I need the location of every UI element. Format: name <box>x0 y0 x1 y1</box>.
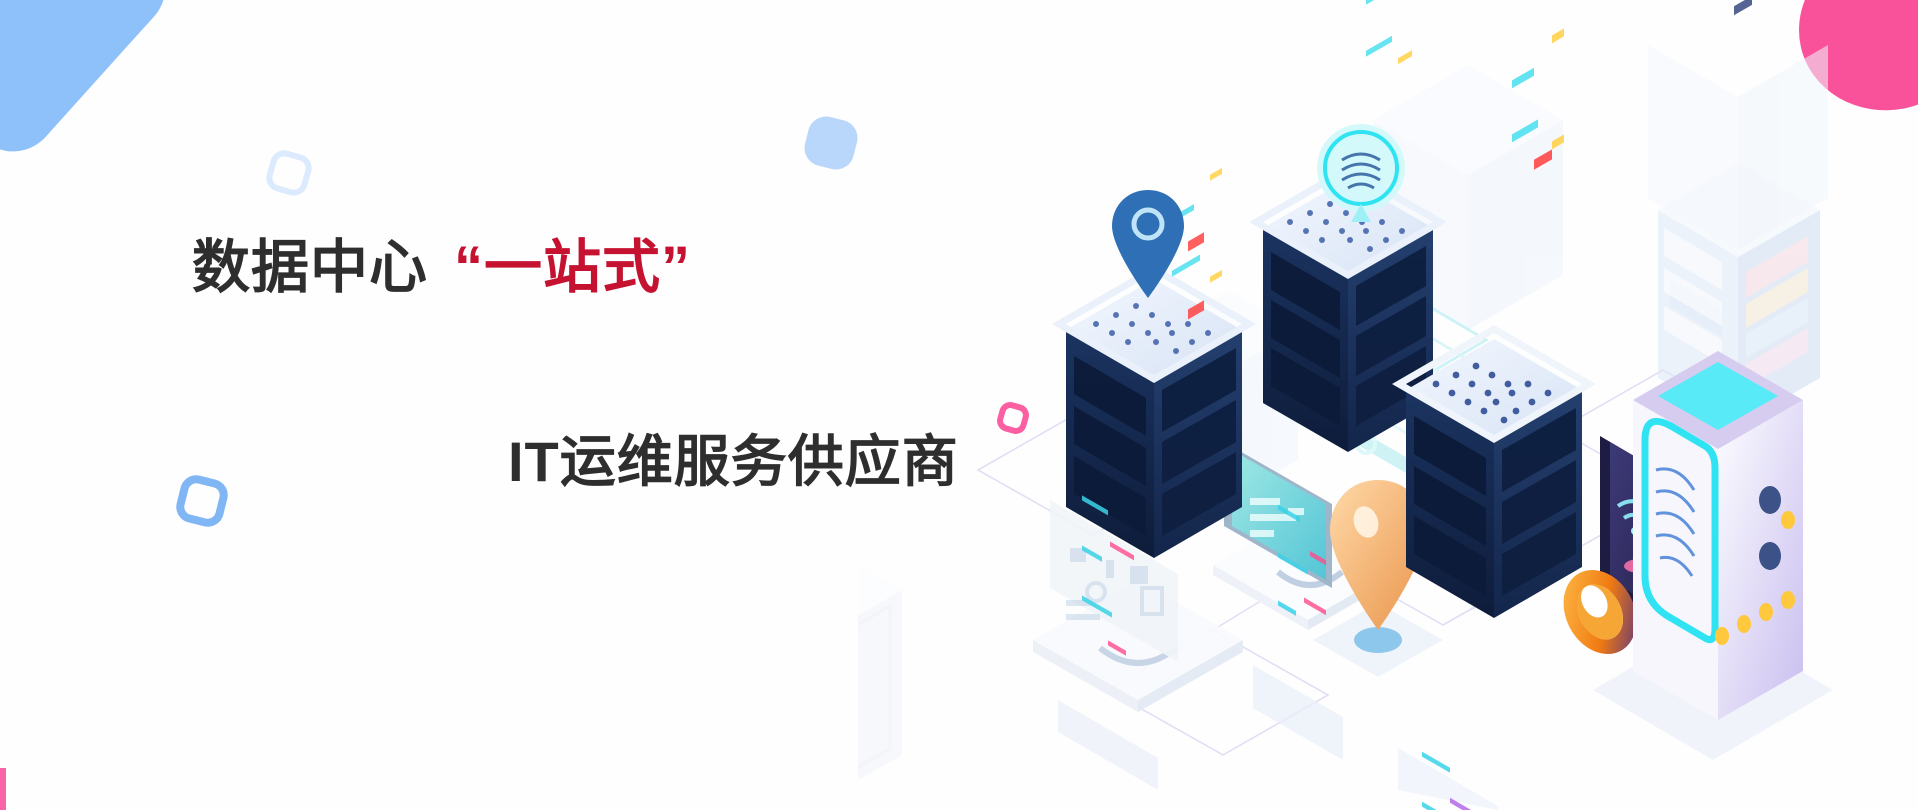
desktop-monitor-right <box>1213 420 1418 630</box>
server-rack-ghost <box>1658 163 1820 425</box>
server-rack-left <box>1058 168 1249 790</box>
headline-line-two: IT运维服务供应商 <box>508 417 1072 498</box>
page-title-accent: “一站式” <box>454 235 691 300</box>
spiral-coin <box>1549 557 1650 667</box>
connector-lines <box>978 370 1778 755</box>
biometric-cabinet <box>1593 0 1833 810</box>
background-ghost-shapes <box>1158 45 1828 500</box>
server-rack-right <box>1398 28 1589 810</box>
squircle-filled-blue-icon <box>801 113 862 174</box>
tablet-device-wifi <box>1568 436 1728 810</box>
rounded-square-blue-decoration <box>0 0 184 170</box>
server-rack-center <box>1253 0 1440 760</box>
map-pin-marker <box>1313 480 1443 677</box>
hero-banner: 数据中心“一站式” IT运维服务供应商 <box>0 0 1918 810</box>
outline-cabinet-watermark <box>858 537 902 808</box>
status-led-group <box>1715 511 1795 645</box>
headline-line-one: 数据中心“一站式” <box>192 236 1072 301</box>
stacked-layers-node <box>1350 300 1486 440</box>
desktop-monitor-left <box>1033 500 1243 712</box>
headline-block: 数据中心“一站式” IT运维服务供应商 <box>192 236 1072 498</box>
accent-bar-pink <box>0 768 6 810</box>
page-title-primary: 数据中心 <box>192 235 428 300</box>
pin-icon-on-rack <box>1112 190 1184 298</box>
blob-pink-decoration <box>1782 0 1918 127</box>
fingerprint-scanner-badge <box>1317 124 1405 222</box>
squircle-outline-pale-blue-icon <box>263 147 315 199</box>
